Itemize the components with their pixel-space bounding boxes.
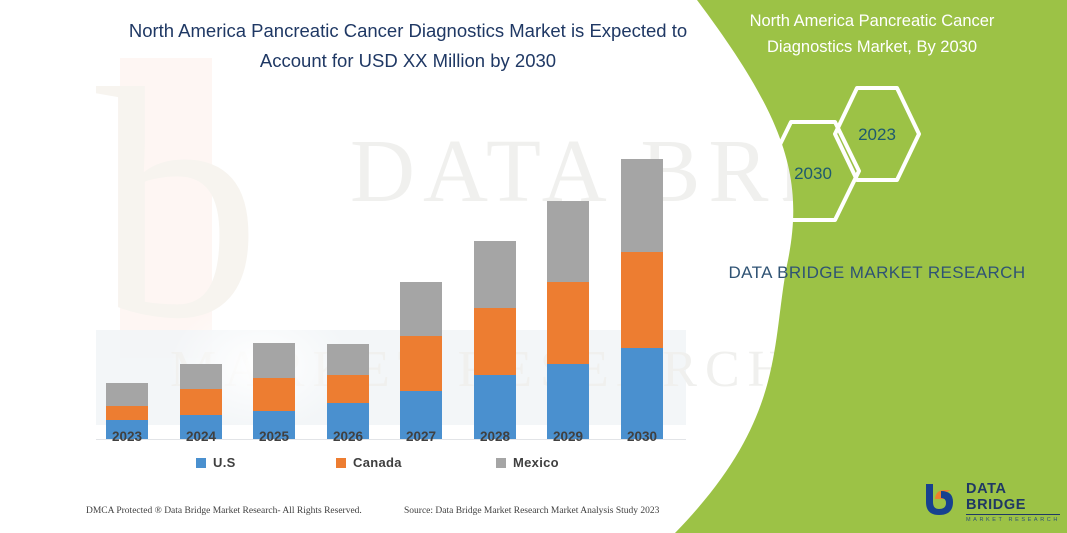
bar-group-2029 bbox=[547, 201, 589, 439]
bar-segment-mexico-2025 bbox=[253, 343, 295, 378]
legend-item-mexico[interactable]: Mexico bbox=[496, 455, 559, 470]
x-axis-tick-labels: 20232024202520262027202820292030 bbox=[96, 429, 686, 451]
bar-segment-canada-2028 bbox=[474, 308, 516, 374]
infographic-canvas: b DATA BRIDGE MARKET RESEARCH North Amer… bbox=[0, 0, 1067, 533]
x-tick-label-2023: 2023 bbox=[97, 429, 157, 444]
brand-logo: DATA BRIDGE MARKET RESEARCH bbox=[920, 478, 1060, 520]
green-panel-brand: DATA BRIDGE MARKET RESEARCH bbox=[727, 258, 1027, 287]
x-tick-label-2030: 2030 bbox=[612, 429, 672, 444]
bar-group-2026 bbox=[327, 344, 369, 439]
footer: DMCA Protected ® Data Bridge Market Rese… bbox=[86, 506, 686, 524]
bar-group-2025 bbox=[253, 343, 295, 439]
green-panel-title: North America Pancreatic Cancer Diagnost… bbox=[707, 8, 1037, 60]
logo-name: DATA BRIDGE bbox=[966, 481, 1060, 515]
x-tick-label-2027: 2027 bbox=[391, 429, 451, 444]
legend-item-us[interactable]: U.S bbox=[196, 455, 236, 470]
stacked-bar-chart bbox=[96, 140, 686, 440]
legend-label: Mexico bbox=[513, 455, 559, 470]
bar-group-2028 bbox=[474, 241, 516, 439]
bar-segment-mexico-2027 bbox=[400, 282, 442, 337]
bar-segment-mexico-2026 bbox=[327, 344, 369, 375]
hexagon-badges: 2030 2023 bbox=[757, 85, 1037, 205]
x-tick-label-2028: 2028 bbox=[465, 429, 525, 444]
bar-segment-canada-2023 bbox=[106, 406, 148, 420]
green-side-panel: North America Pancreatic Cancer Diagnost… bbox=[667, 0, 1067, 533]
legend-item-canada[interactable]: Canada bbox=[336, 455, 402, 470]
bar-group-2030 bbox=[621, 159, 663, 439]
bar-segment-canada-2030 bbox=[621, 252, 663, 348]
page-title: North America Pancreatic Cancer Diagnost… bbox=[108, 16, 708, 76]
legend-label: Canada bbox=[353, 455, 402, 470]
bar-segment-mexico-2029 bbox=[547, 201, 589, 281]
logo-tagline: MARKET RESEARCH bbox=[966, 517, 1060, 523]
logo-text-block: DATA BRIDGE MARKET RESEARCH bbox=[966, 481, 1060, 523]
x-tick-label-2024: 2024 bbox=[171, 429, 231, 444]
x-tick-label-2026: 2026 bbox=[318, 429, 378, 444]
chart-legend: U.SCanadaMexico bbox=[96, 455, 686, 477]
x-tick-label-2029: 2029 bbox=[538, 429, 598, 444]
logo-mark-icon bbox=[920, 478, 962, 518]
bar-segment-canada-2025 bbox=[253, 378, 295, 411]
bar-segment-mexico-2030 bbox=[621, 159, 663, 251]
footer-copyright: DMCA Protected ® Data Bridge Market Rese… bbox=[86, 506, 362, 516]
legend-label: U.S bbox=[213, 455, 236, 470]
bar-segment-mexico-2024 bbox=[180, 364, 222, 389]
legend-swatch-icon bbox=[496, 458, 506, 468]
bar-segment-canada-2027 bbox=[400, 336, 442, 391]
legend-swatch-icon bbox=[196, 458, 206, 468]
bar-segment-canada-2024 bbox=[180, 389, 222, 416]
bar-group-2027 bbox=[400, 282, 442, 439]
bar-group-2024 bbox=[180, 364, 222, 439]
bar-segment-mexico-2028 bbox=[474, 241, 516, 309]
bar-segment-us-2029 bbox=[547, 364, 589, 439]
footer-source: Source: Data Bridge Market Research Mark… bbox=[404, 506, 659, 516]
bar-segment-mexico-2023 bbox=[106, 383, 148, 406]
x-tick-label-2025: 2025 bbox=[244, 429, 304, 444]
bar-segment-us-2030 bbox=[621, 348, 663, 439]
bar-segment-canada-2026 bbox=[327, 375, 369, 403]
legend-swatch-icon bbox=[336, 458, 346, 468]
bar-segment-canada-2029 bbox=[547, 282, 589, 365]
hexagon-2023-label: 2023 bbox=[825, 125, 929, 145]
